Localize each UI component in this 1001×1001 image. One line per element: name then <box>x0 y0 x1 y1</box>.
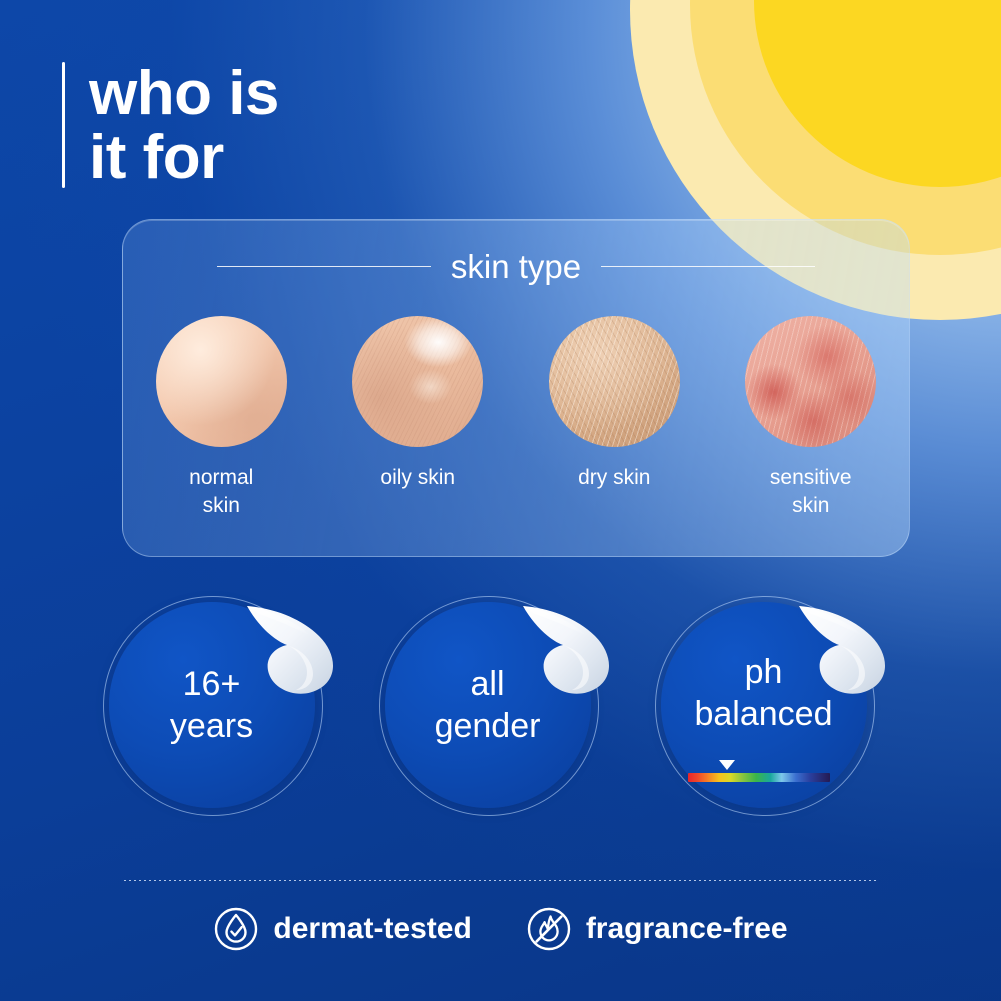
attribute-badge-row: 16+ years <box>0 596 1001 816</box>
dry-skin-swatch <box>549 316 680 447</box>
normal-skin-swatch <box>156 316 287 447</box>
title-line-2: it for <box>89 126 279 190</box>
skin-type-item-oily: oily skin <box>320 316 517 520</box>
skin-type-heading: skin type <box>123 250 909 283</box>
title-line-1: who is <box>89 62 279 126</box>
title-accent-rule <box>62 62 65 188</box>
skin-type-item-sensitive: sensitive skin <box>713 316 910 520</box>
badge-label: 16+ years <box>109 602 315 808</box>
badge-gender: all gender <box>379 596 623 816</box>
skin-type-item-label: sensitive skin <box>770 464 852 520</box>
no-fragrance-icon <box>526 906 572 952</box>
sun-core-icon <box>754 0 1001 187</box>
claim-fragrance-free: fragrance-free <box>526 906 788 952</box>
skin-type-item-normal: normal skin <box>123 316 320 520</box>
sensitive-skin-swatch <box>745 316 876 447</box>
skin-type-item-dry: dry skin <box>516 316 713 520</box>
page-title: who is it for <box>62 62 279 191</box>
heading-rule-right <box>601 266 815 267</box>
claim-label: fragrance-free <box>586 914 788 944</box>
ph-marker-icon <box>719 760 735 770</box>
badge-age: 16+ years <box>103 596 347 816</box>
badge-ph: ph balanced <box>655 596 899 816</box>
title-text: who is it for <box>89 62 279 191</box>
section-divider <box>124 880 879 881</box>
heading-rule-left <box>217 266 431 267</box>
ph-scale <box>688 773 830 782</box>
claims-row: dermat-tested fragrance-free <box>0 906 1001 952</box>
oily-skin-swatch <box>352 316 483 447</box>
sun-middle-ring-icon <box>690 0 1001 255</box>
skin-type-panel: skin type normal skin oily skin dry skin… <box>122 219 910 557</box>
skin-type-item-label: normal skin <box>189 464 253 520</box>
claim-label: dermat-tested <box>273 914 471 944</box>
skin-type-item-label: oily skin <box>380 464 455 492</box>
infographic-canvas: who is it for skin type normal skin oily… <box>0 0 1001 1001</box>
skin-type-list: normal skin oily skin dry skin sensitive… <box>123 316 909 520</box>
skin-type-label: skin type <box>451 250 581 283</box>
badge-label: all gender <box>385 602 591 808</box>
skin-type-item-label: dry skin <box>578 464 650 492</box>
claim-dermat-tested: dermat-tested <box>213 906 471 952</box>
droplet-check-icon <box>213 906 259 952</box>
ph-gradient-bar <box>688 773 830 782</box>
